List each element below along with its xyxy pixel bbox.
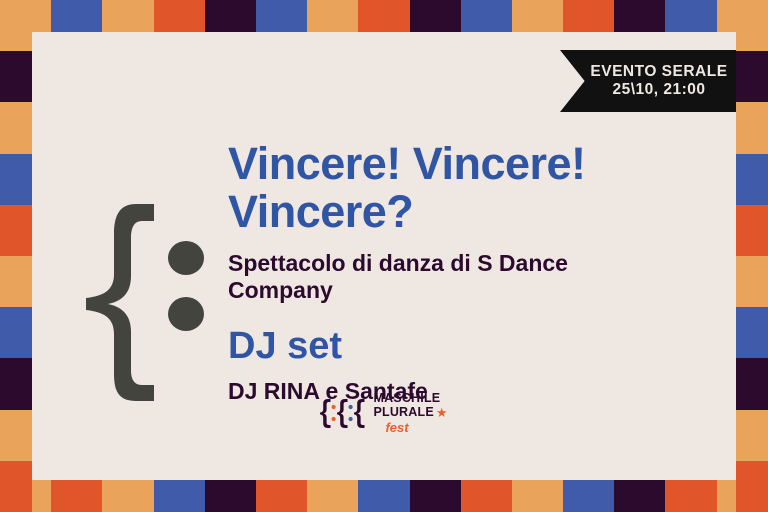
border-swatch (0, 256, 32, 307)
border-swatch (563, 0, 614, 32)
border-swatch (256, 480, 307, 512)
decorative-border-left (0, 0, 32, 512)
border-swatch (205, 0, 256, 32)
border-swatch (0, 461, 32, 512)
border-swatch (736, 358, 768, 409)
border-swatch (0, 307, 32, 358)
logo-word-plurale: PLURALE (373, 406, 433, 420)
border-swatch (614, 480, 665, 512)
curly-brace-colon-icon (78, 200, 208, 405)
border-swatch (0, 205, 32, 256)
border-swatch (410, 0, 461, 32)
border-swatch (0, 358, 32, 409)
border-swatch (307, 0, 358, 32)
border-swatch (358, 0, 409, 32)
border-swatch (736, 0, 768, 51)
border-swatch (461, 0, 512, 32)
border-swatch (0, 51, 32, 102)
poster-panel: EVENTO SERALE 25\10, 21:00 Vincere! Vinc… (32, 32, 736, 480)
page-title: Vincere! Vincere! Vincere? (228, 140, 698, 236)
border-swatch (0, 154, 32, 205)
border-swatch (0, 410, 32, 461)
event-poster: EVENTO SERALE 25\10, 21:00 Vincere! Vinc… (0, 0, 768, 512)
maschile-plurale-fest-logo: MASCHILE PLURALE ★ fest (32, 392, 736, 434)
banner-label-evento-serale: EVENTO SERALE (590, 63, 727, 81)
border-swatch (205, 480, 256, 512)
border-swatch (736, 256, 768, 307)
logo-wordmark: MASCHILE PLURALE ★ fest (373, 392, 447, 434)
poster-content: Vincere! Vincere! Vincere? Spettacolo di… (228, 140, 698, 406)
border-swatch (736, 205, 768, 256)
border-swatch (51, 480, 102, 512)
border-swatch (0, 102, 32, 153)
border-swatch (736, 51, 768, 102)
border-swatch (256, 0, 307, 32)
border-swatch (154, 0, 205, 32)
border-swatch (102, 0, 153, 32)
border-swatch (154, 480, 205, 512)
logo-word-maschile: MASCHILE (373, 392, 440, 406)
border-swatch (563, 480, 614, 512)
border-swatch (665, 480, 716, 512)
border-swatch (410, 480, 461, 512)
triple-brace-colon-logo-icon (320, 396, 366, 430)
border-swatch (614, 0, 665, 32)
border-swatch (736, 461, 768, 512)
border-swatch (512, 480, 563, 512)
border-swatch (102, 480, 153, 512)
border-swatch (736, 410, 768, 461)
banner-label-date-time: 25\10, 21:00 (612, 81, 705, 100)
dj-set-heading: DJ set (228, 327, 698, 367)
border-swatch (461, 480, 512, 512)
border-swatch (736, 307, 768, 358)
decorative-border-right (736, 0, 768, 512)
decorative-border-top (0, 0, 768, 32)
star-icon: ★ (436, 406, 448, 419)
border-swatch (51, 0, 102, 32)
border-swatch (0, 0, 32, 51)
border-swatch (736, 154, 768, 205)
border-swatch (512, 0, 563, 32)
border-swatch (307, 480, 358, 512)
border-swatch (665, 0, 716, 32)
event-time-banner: EVENTO SERALE 25\10, 21:00 (560, 50, 736, 112)
show-description: Spettacolo di danza di S Dance Company (228, 250, 653, 304)
border-swatch (358, 480, 409, 512)
logo-word-fest: fest (385, 421, 447, 434)
border-swatch (736, 102, 768, 153)
decorative-border-bottom (0, 480, 768, 512)
